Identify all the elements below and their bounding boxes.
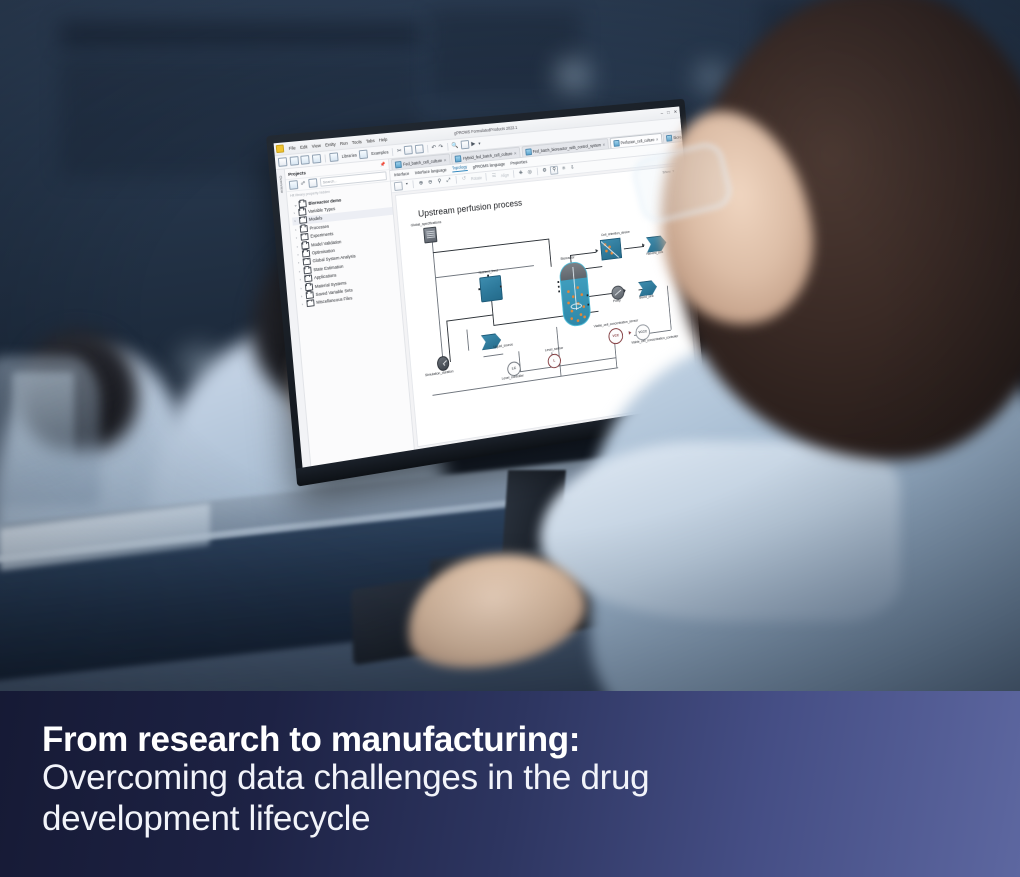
rotate-icon: ↺ [461, 175, 468, 182]
save-all-icon[interactable] [312, 154, 321, 164]
chevron-down-icon[interactable]: ▼ [478, 141, 482, 145]
cut-icon[interactable]: ✂ [397, 148, 402, 154]
folder-icon [306, 300, 314, 308]
toolbar-separator [427, 144, 429, 152]
select-mode-icon[interactable] [394, 181, 403, 191]
chevron-right-icon[interactable]: › [300, 285, 303, 290]
align-label: Align [500, 172, 509, 178]
node-label: Global_specifications [411, 220, 442, 227]
node-label: Level_sensor [545, 346, 564, 352]
connection-line [483, 353, 503, 357]
connection-line [556, 326, 561, 375]
zoom-fit-icon[interactable]: ⤢ [445, 177, 452, 184]
flow-arrow-icon [629, 330, 632, 334]
node-label: Bioreactor [560, 255, 574, 260]
feed-block-icon [479, 275, 503, 302]
copy-icon[interactable] [404, 145, 413, 154]
subtab-interface[interactable]: Interface [394, 171, 410, 177]
filter-icon [600, 237, 622, 260]
folder-icon [299, 217, 307, 225]
expand-arrow-icon[interactable]: ⌄ [294, 202, 297, 207]
build-icon[interactable] [460, 140, 469, 149]
node-viable-cell-concentration-sensor[interactable]: VCC Viable_cell_concentration_sensor [608, 327, 624, 345]
node-simulation-duration[interactable]: Simulation_duration [437, 355, 450, 371]
foreground-researcher-arm [540, 441, 900, 621]
connection-line [432, 240, 444, 365]
controller-tag: VCCC [638, 329, 647, 334]
chevron-right-icon[interactable]: › [298, 260, 301, 265]
collapse-all-icon[interactable] [308, 178, 317, 188]
impeller-icon [570, 303, 582, 310]
toolbar-separator [536, 168, 538, 176]
banner-subline-1: Overcoming data challenges in the drug [42, 758, 1020, 799]
bokeh-light [560, 62, 586, 88]
tab-label: Perfusion_cell_culture [620, 137, 654, 145]
node-label: Pump [613, 298, 621, 303]
node-level-controller[interactable]: LC Level_controller [507, 360, 522, 376]
examples-label[interactable]: Examples [371, 150, 389, 157]
new-entity-icon[interactable] [289, 180, 299, 190]
libraries-label[interactable]: Libraries [341, 153, 357, 159]
folder-icon [298, 208, 306, 216]
bg-panel [430, 10, 580, 100]
banner-text-block: From research to manufacturing: Overcomi… [0, 691, 1020, 840]
projects-title: Projects [288, 170, 306, 177]
folder-icon [305, 283, 313, 291]
folder-icon [303, 258, 311, 266]
redo-icon[interactable]: ↷ [438, 144, 443, 150]
toolbar-separator [392, 148, 394, 156]
documents-icon [423, 226, 437, 243]
entity-icon [525, 148, 532, 155]
sensor-tag: L [553, 359, 555, 363]
laboratory-photo: File Edit View Entity Run Tools Tabs Hel… [0, 0, 1020, 691]
chevron-right-icon[interactable]: › [299, 277, 302, 282]
subtab-topology[interactable]: Topology [452, 164, 468, 173]
save-icon[interactable] [300, 155, 310, 165]
layout-icon[interactable]: ⚛ [560, 165, 567, 172]
search-icon[interactable]: 🔍 [451, 142, 458, 148]
hero-image: File Edit View Entity Run Tools Tabs Hel… [0, 0, 1020, 877]
tree-item-label: Models [309, 216, 323, 222]
sensor-icon: VCC [608, 327, 624, 345]
node-bleed-sink[interactable]: Bleed_sink [638, 279, 658, 296]
chevron-right-icon[interactable]: › [302, 302, 305, 307]
settings-icon[interactable]: ⚙ [541, 167, 548, 174]
node-label: Cell_retention_device [601, 230, 630, 237]
connection-line [446, 314, 493, 321]
node-label: Nutrient_feed [479, 268, 498, 274]
node-label: Harvest_sink [646, 250, 663, 256]
new-icon[interactable] [278, 157, 288, 167]
group-icon[interactable]: ◎ [526, 169, 533, 176]
toolbar-separator [412, 180, 414, 188]
minimize-icon[interactable]: – [660, 111, 663, 117]
close-icon[interactable]: ✕ [602, 142, 605, 147]
flow-arrow-icon [642, 243, 645, 247]
tree-item-label: Miscellaneous Files [316, 296, 352, 305]
connection-line [466, 329, 469, 350]
close-icon[interactable]: ✕ [674, 109, 678, 115]
node-label: Level_controller [502, 373, 524, 380]
subtab-gproms-language[interactable]: gPROMS language [473, 162, 506, 170]
undo-icon[interactable]: ↶ [431, 145, 436, 151]
connection-line [624, 246, 644, 249]
tab-label: Fed_batch_cell_culture [403, 158, 442, 167]
folder-icon [306, 291, 314, 299]
entity-icon [395, 161, 402, 168]
title-banner: From research to manufacturing: Overcomi… [0, 691, 1020, 877]
connection-line [432, 367, 618, 395]
banner-headline: From research to manufacturing: [42, 722, 1020, 758]
zoom-in-icon[interactable]: ⊕ [418, 180, 425, 187]
link-icon[interactable]: ☍ [301, 182, 306, 187]
node-bioreactor[interactable]: Bioreactor [558, 260, 591, 327]
node-viable-cell-concentration-controller[interactable]: VCCC Viable_cell_concentration_controlle… [635, 323, 651, 341]
chevron-right-icon[interactable]: › [299, 269, 302, 274]
banner-subline-2: development lifecycle [42, 799, 1020, 840]
entity-icon [613, 140, 619, 147]
node-label: Simulation_duration [425, 369, 454, 377]
close-icon[interactable]: ✕ [443, 157, 446, 162]
chevron-right-icon[interactable]: › [296, 235, 299, 240]
bg-panel [60, 22, 420, 48]
node-nutrient-feed[interactable]: Nutrient_feed [479, 275, 503, 302]
node-global-specifications[interactable]: Global_specifications [423, 226, 437, 243]
subtab-properties[interactable]: Properties [510, 159, 527, 165]
connection-icon[interactable]: ⎈ [518, 170, 525, 177]
maximize-icon[interactable]: □ [667, 110, 670, 116]
toolbar-separator [486, 173, 488, 181]
connection-line [491, 299, 494, 326]
entity-icon [455, 155, 462, 162]
flow-arrow-icon [595, 248, 598, 252]
node-cell-retention-device[interactable]: Cell_retention_device [600, 237, 622, 260]
folder-icon [304, 275, 312, 283]
folder-icon [300, 225, 308, 233]
close-icon[interactable]: ✕ [655, 137, 658, 142]
examples-icon[interactable] [359, 150, 368, 160]
sensor-tag: VCC [612, 333, 619, 338]
toolbar-separator [324, 154, 326, 162]
project-tree[interactable]: ⌄ Bioreactor demo › Variable Types [288, 189, 401, 309]
zoom-area-icon[interactable]: ⚲ [436, 178, 443, 185]
sensor-icon: L [547, 353, 561, 369]
connection-line [433, 238, 549, 253]
chevron-right-icon[interactable]: › [293, 210, 296, 215]
close-icon[interactable]: ✕ [514, 150, 517, 155]
node-pump[interactable]: Pump [611, 284, 625, 300]
inspect-icon[interactable]: ⚲ [550, 165, 559, 174]
libraries-icon[interactable] [329, 152, 338, 162]
folder-icon [303, 266, 311, 274]
chevron-right-icon[interactable]: › [294, 219, 297, 224]
chevron-right-icon[interactable]: › [296, 244, 299, 249]
pin-icon[interactable]: 📌 [380, 162, 386, 168]
folder-icon [300, 233, 308, 241]
toolbar-separator [456, 176, 458, 184]
connection-line [667, 285, 672, 329]
folder-icon [302, 250, 310, 258]
node-liquid-source[interactable]: Liquid_source [481, 332, 502, 350]
subtab-interface-language[interactable]: Interface language [415, 168, 447, 176]
overview-rail-label[interactable]: Overview [278, 176, 283, 194]
window-controls[interactable]: – □ ✕ [660, 109, 677, 116]
chevron-down-icon[interactable]: ▼ [405, 183, 409, 187]
entity-icon [666, 134, 672, 141]
chevron-right-icon[interactable]: › [295, 227, 298, 232]
bokeh-light [700, 66, 722, 88]
toolbar-separator [513, 170, 515, 178]
toolbar-separator [447, 143, 449, 151]
rotate-label: Rotate [471, 175, 483, 181]
folder-icon [301, 241, 309, 249]
chair [0, 356, 100, 506]
run-icon[interactable]: ▶ [471, 141, 476, 147]
open-icon[interactable] [289, 156, 299, 166]
connection-line [548, 238, 551, 266]
node-label: Bleed_sink [639, 294, 654, 300]
diagram-title: Upstream perfusion process [418, 197, 523, 218]
node-label: Viable_cell_concentration_sensor [594, 318, 639, 328]
zoom-out-icon[interactable]: ⊖ [427, 179, 434, 186]
paste-icon[interactable] [414, 144, 423, 153]
chevron-right-icon[interactable]: › [301, 293, 304, 298]
align-icon: ☰ [491, 172, 498, 179]
node-level-sensor[interactable]: L Level_sensor [547, 353, 561, 369]
controller-tag: LC [512, 366, 517, 370]
project-folder-icon [298, 200, 306, 208]
chevron-right-icon[interactable]: › [297, 252, 300, 257]
export-icon[interactable]: ⇩ [569, 164, 576, 171]
